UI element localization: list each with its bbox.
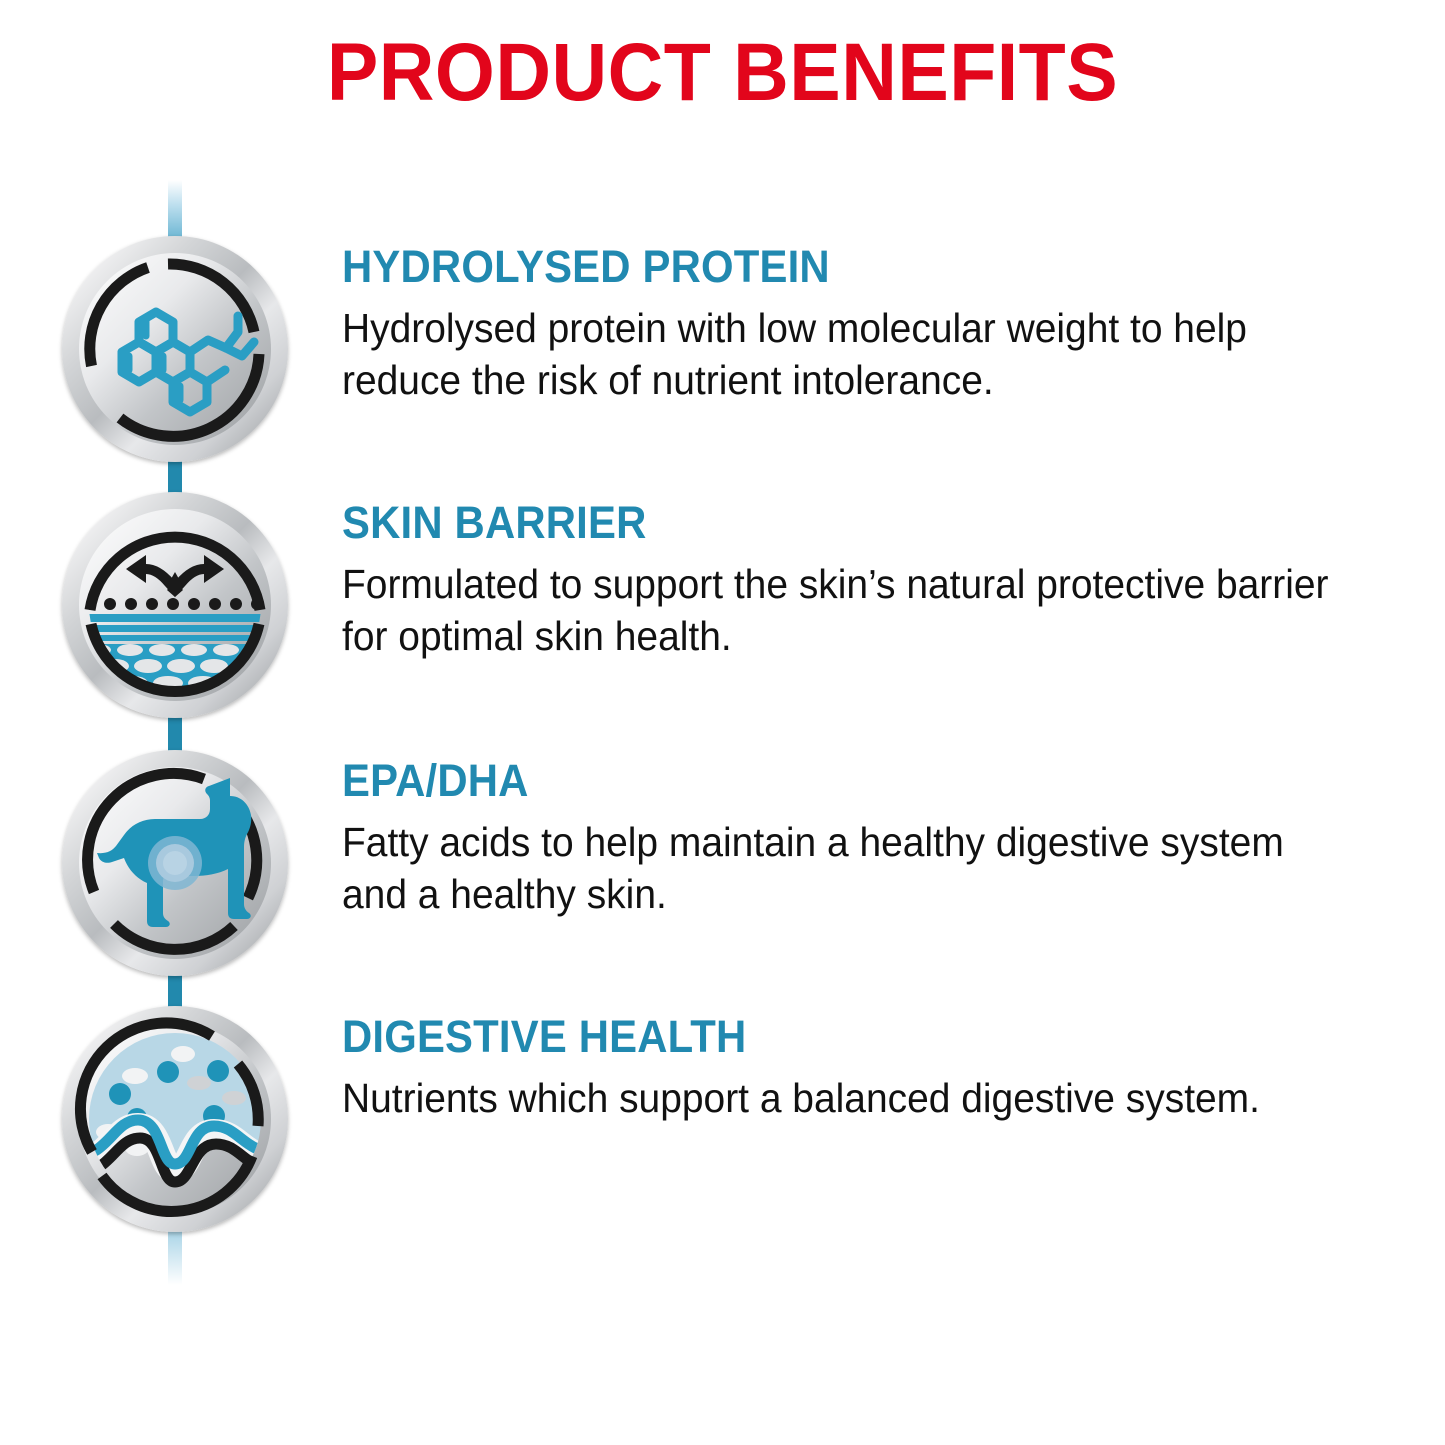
benefit-body: Fatty acids to help maintain a healthy d…	[342, 816, 1359, 920]
skin-barrier-icon	[62, 492, 288, 718]
benefit-heading: SKIN BARRIER	[342, 498, 1337, 548]
product-benefits-page: PRODUCT BENEFITS	[0, 0, 1445, 1445]
benefit-body: Hydrolysed protein with low molecular we…	[342, 302, 1359, 406]
benefit-heading: EPA/DHA	[342, 756, 1337, 806]
benefit-body: Formulated to support the skin’s natural…	[342, 558, 1359, 662]
benefit-text-hydrolysed-protein: HYDROLYSED PROTEIN Hydrolysed protein wi…	[342, 242, 1412, 406]
digestive-wave-icon	[62, 1006, 288, 1232]
benefit-text-epa-dha: EPA/DHA Fatty acids to help maintain a h…	[342, 756, 1412, 920]
benefit-row-digestive-health: DIGESTIVE HEALTH Nutrients which support…	[0, 1006, 1445, 1236]
molecule-icon	[62, 236, 288, 462]
benefit-row-skin-barrier: SKIN BARRIER Formulated to support the s…	[0, 492, 1445, 722]
benefit-row-hydrolysed-protein: HYDROLYSED PROTEIN Hydrolysed protein wi…	[0, 236, 1445, 466]
dog-icon	[62, 750, 288, 976]
benefit-text-digestive-health: DIGESTIVE HEALTH Nutrients which support…	[342, 1012, 1412, 1124]
benefit-row-epa-dha: EPA/DHA Fatty acids to help maintain a h…	[0, 750, 1445, 980]
benefit-heading: HYDROLYSED PROTEIN	[342, 242, 1337, 292]
page-title: PRODUCT BENEFITS	[43, 26, 1401, 120]
benefit-heading: DIGESTIVE HEALTH	[342, 1012, 1337, 1062]
benefit-body: Nutrients which support a balanced diges…	[342, 1072, 1359, 1124]
benefit-text-skin-barrier: SKIN BARRIER Formulated to support the s…	[342, 498, 1412, 662]
